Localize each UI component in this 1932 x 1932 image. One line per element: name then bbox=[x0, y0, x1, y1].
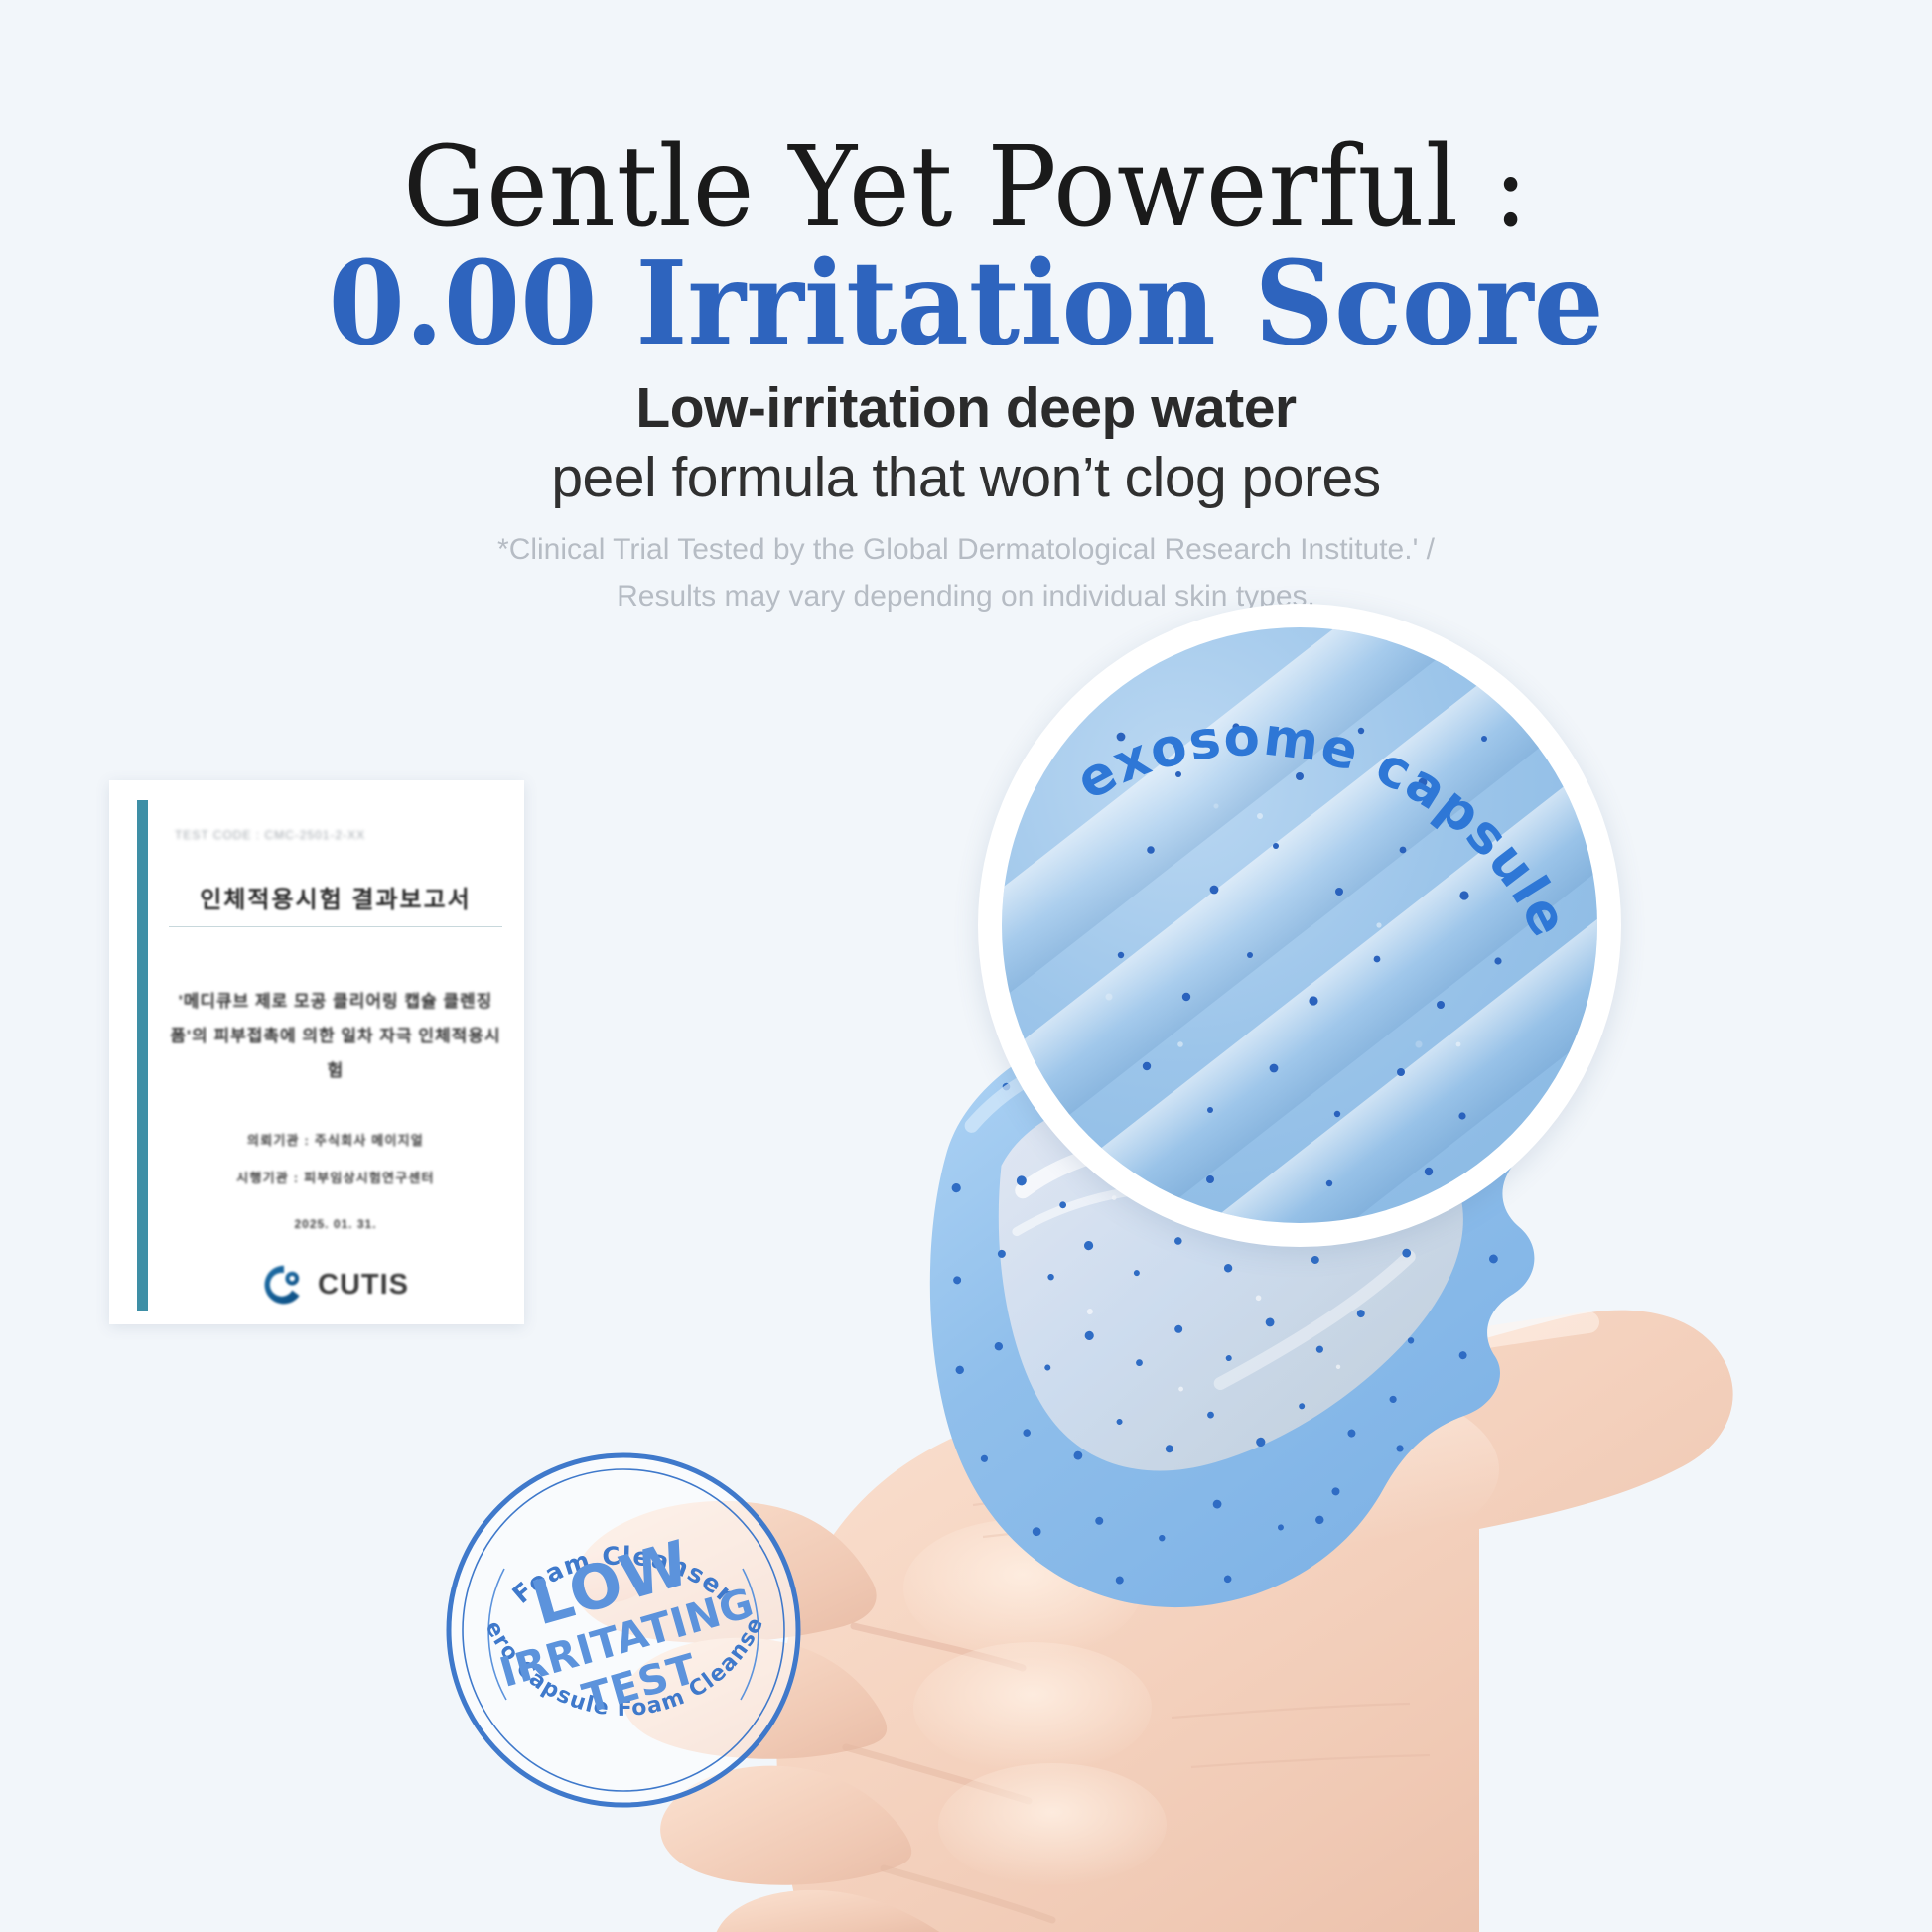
subheadline-bold: Low-irritation deep water bbox=[0, 375, 1932, 441]
certificate-test-code: TEST CODE : CMC-2501-2-XX bbox=[175, 828, 365, 842]
certificate-client: 의뢰기관 : 주식회사 메이지얼 bbox=[167, 1122, 504, 1160]
cutis-logo: CUTIS bbox=[167, 1255, 504, 1314]
certificate-divider bbox=[169, 926, 502, 927]
certificate-subject: '메디큐브 제로 모공 클리어링 캡슐 클렌징 폼'의 피부접촉에 의한 일차 … bbox=[167, 985, 504, 1089]
certificate-subject-line-1: '메디큐브 제로 모공 클리어링 캡슐 클렌징 bbox=[167, 985, 504, 1020]
certificate-institute: 시행기관 : 피부임상시험연구센터 bbox=[167, 1160, 504, 1197]
cutis-logo-mark-icon bbox=[262, 1263, 306, 1307]
headline-score: 0.00 Irritation Score bbox=[0, 246, 1932, 361]
clinical-test-certificate: TEST CODE : CMC-2501-2-XX 인체적용시험 결과보고서 '… bbox=[109, 780, 524, 1324]
certificate-date: 2025. 01. 31. bbox=[167, 1217, 504, 1231]
subheadline-regular: peel formula that won’t clog pores bbox=[0, 445, 1932, 510]
marketing-banner: Gentle Yet Powerful : 0.00 Irritation Sc… bbox=[0, 0, 1932, 1932]
subheadline-bold-text: Low-irritation deep water bbox=[0, 375, 1932, 441]
headline-primary: Gentle Yet Powerful : bbox=[0, 132, 1932, 243]
headline-serif-text: Gentle Yet Powerful : bbox=[68, 132, 1864, 243]
headline-score-text: 0.00 Irritation Score bbox=[39, 246, 1893, 361]
low-irritating-test-badge: Foam Cleanser Zero Capsule Foam Cleanser… bbox=[445, 1451, 802, 1809]
certificate-subject-line-2: 폼'의 피부접촉에 의한 일차 자극 인체적용시험 bbox=[167, 1020, 504, 1089]
certificate-accent-bar bbox=[137, 800, 148, 1311]
disclaimer-line-1: *Clinical Trial Tested by the Global Der… bbox=[0, 527, 1932, 574]
cutis-logo-text: CUTIS bbox=[318, 1269, 409, 1302]
exosome-capsule-inset: exosome capsule bbox=[978, 604, 1621, 1247]
exosome-capsule-label-text: exosome capsule bbox=[1067, 707, 1581, 947]
exosome-capsule-label: exosome capsule bbox=[952, 574, 1667, 1289]
certificate-title: 인체적용시험 결과보고서 bbox=[167, 880, 504, 914]
subheadline-regular-text: peel formula that won’t clog pores bbox=[0, 445, 1932, 510]
certificate-organizations: 의뢰기관 : 주식회사 메이지얼 시행기관 : 피부임상시험연구센터 bbox=[167, 1122, 504, 1196]
